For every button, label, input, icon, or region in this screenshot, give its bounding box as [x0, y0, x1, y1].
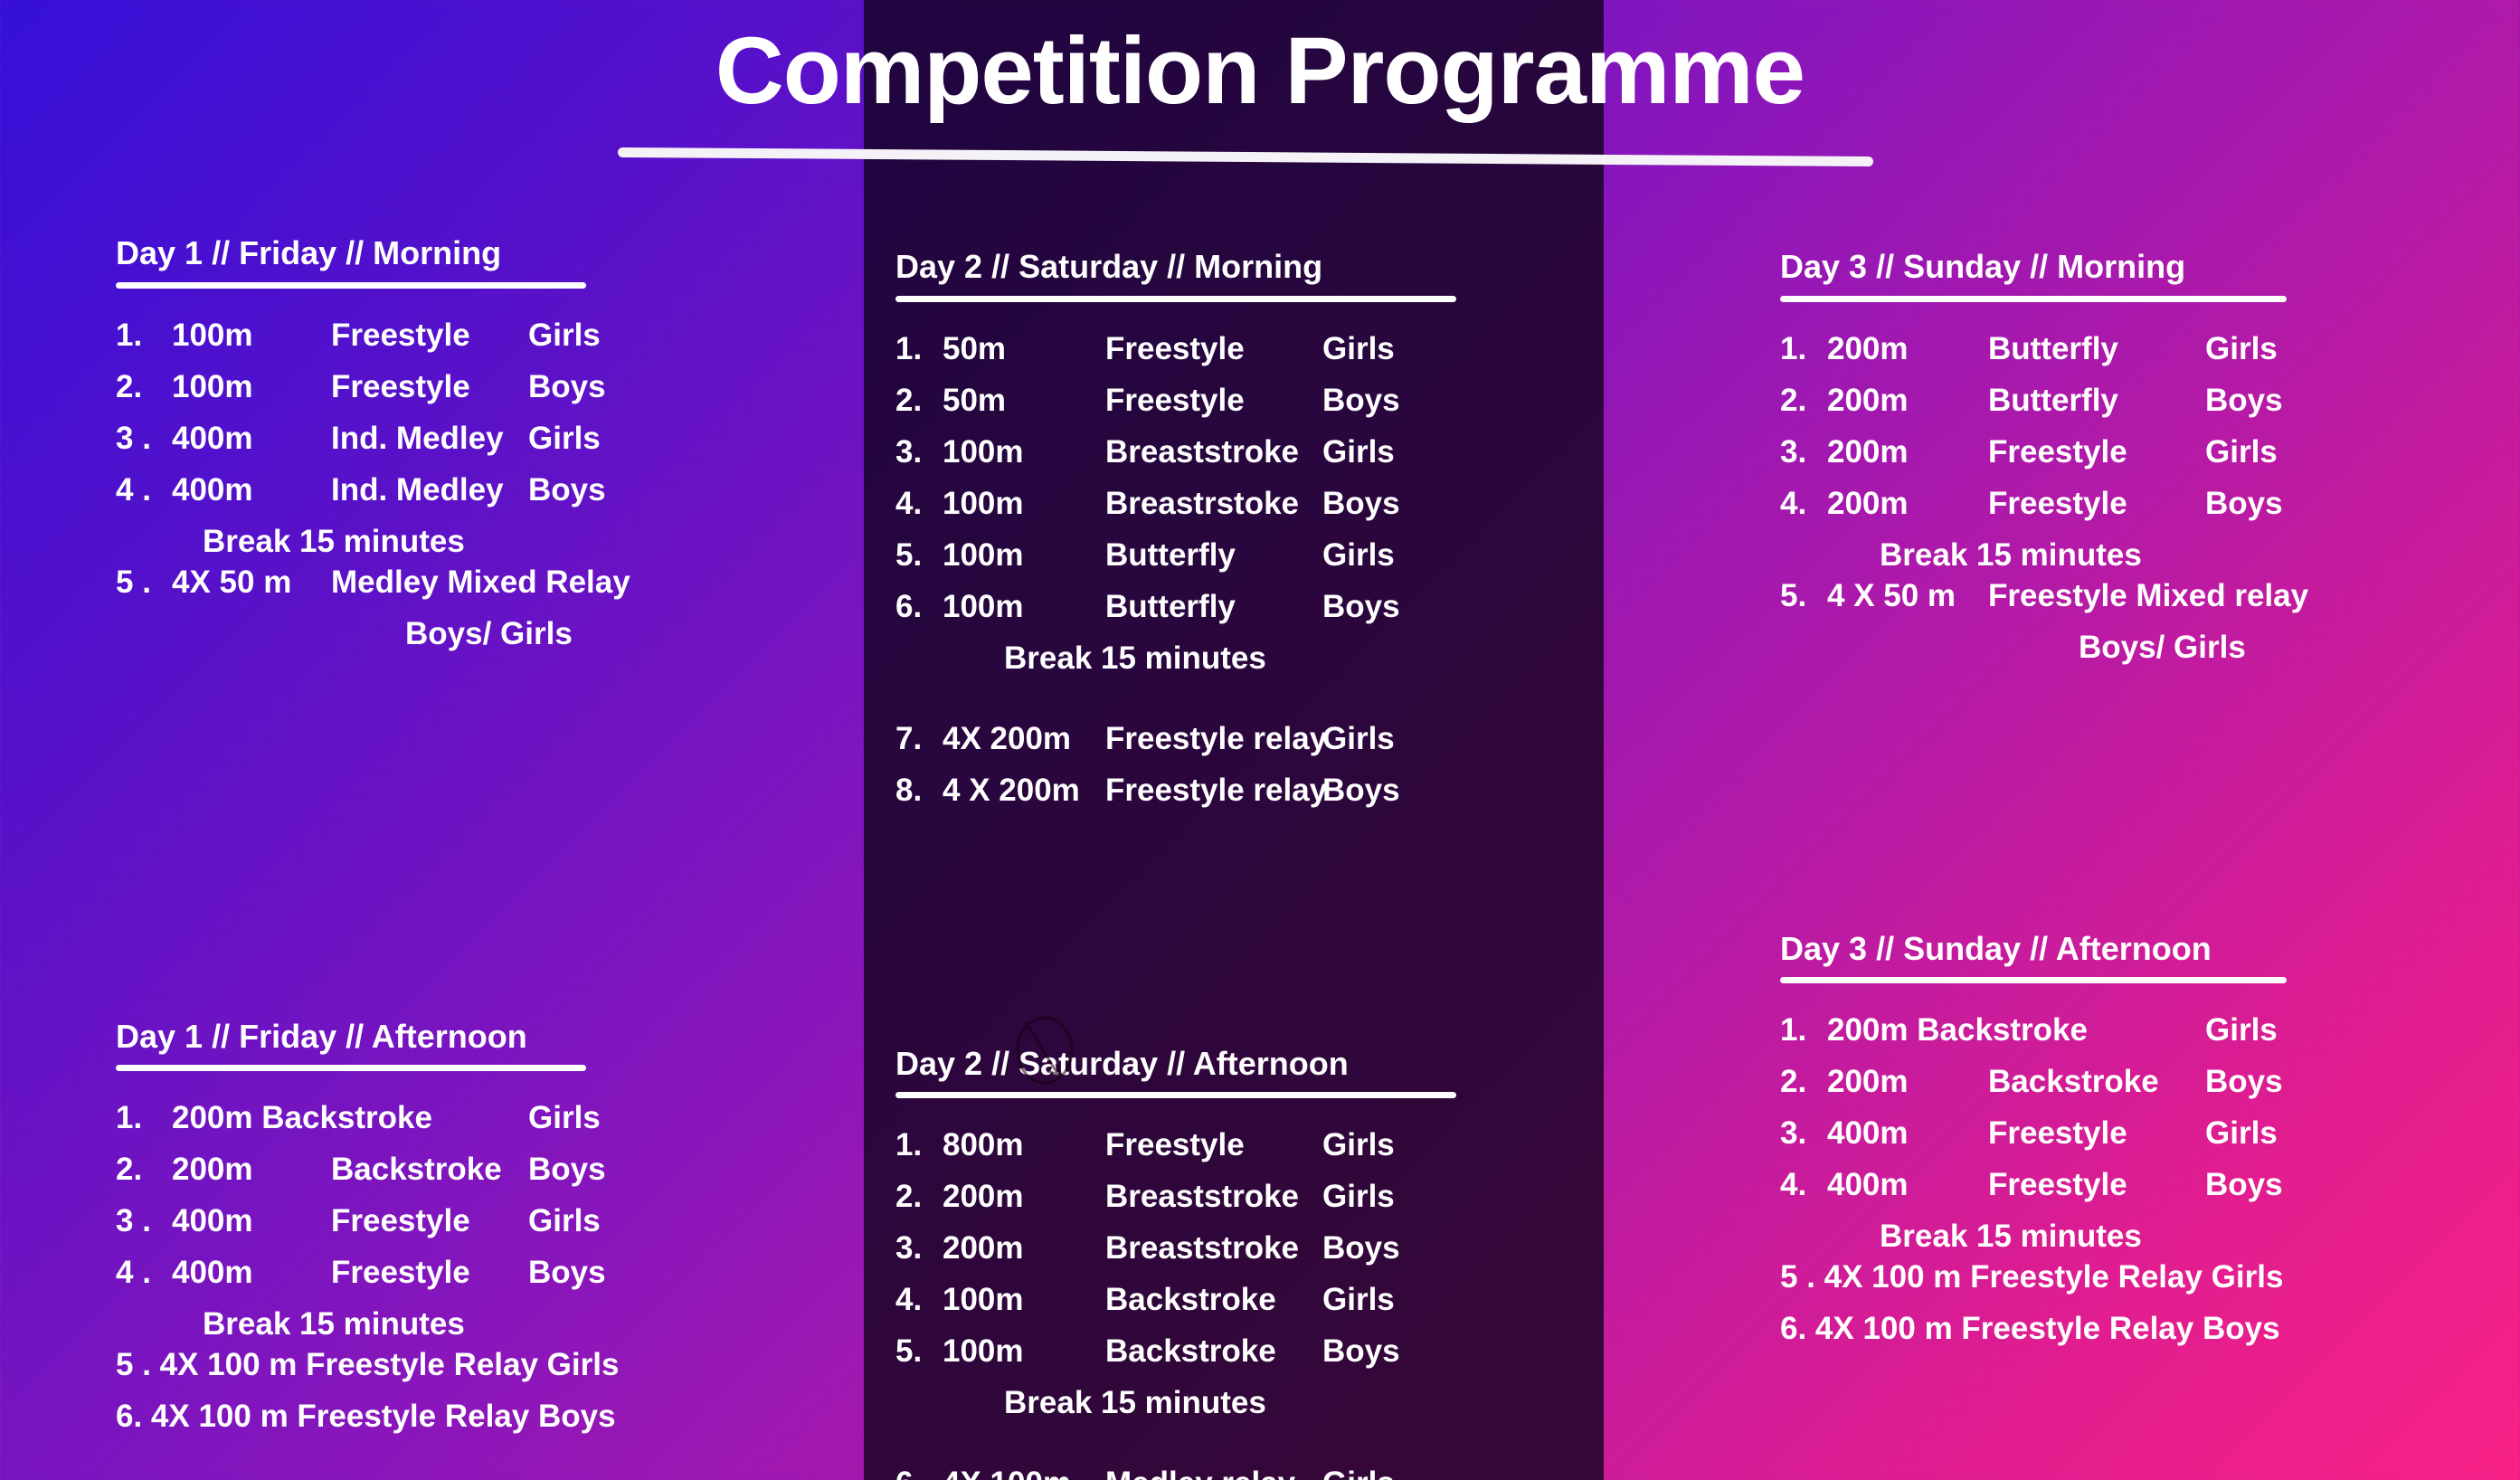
event-stroke: Freestyle [1105, 384, 1322, 416]
event-number: 2. [895, 384, 943, 416]
event-stroke: Breastrstoke [1105, 488, 1322, 519]
section-day-3-afternoon: Day 3 // Sunday // Afternoon1.200m Backs… [1780, 931, 2504, 1345]
event-number: 4. [895, 488, 943, 519]
section-heading: Day 3 // Sunday // Afternoon [1780, 931, 2504, 967]
event-category: Boys [1322, 591, 1400, 622]
event-distance: 200m [943, 1181, 1105, 1212]
continuation-row: Boys/ Girls [116, 618, 839, 650]
event-number: 1. [116, 1102, 172, 1134]
table-row: 3.200mFreestyleGirls [1780, 436, 2504, 468]
table-row: 6.100mButterflyBoys [895, 591, 1610, 622]
break-row: Break 15 minutes [895, 1387, 1610, 1418]
event-category: Girls [1322, 333, 1395, 365]
event-category: Girls [2205, 1117, 2278, 1149]
table-row: 2.200mButterflyBoys [1780, 384, 2504, 416]
table-row: 3.100mBreaststrokeGirls [895, 436, 1610, 468]
column-day-1: Day 1 // Friday // Morning1.100mFreestyl… [116, 235, 839, 1452]
table-row: 2.100mFreestyleBoys [116, 371, 839, 403]
event-category: Boys [2205, 384, 2283, 416]
event-distance: 50m [943, 384, 1105, 416]
event-distance: 200m [1827, 488, 1988, 519]
event-number: 1. [1780, 333, 1827, 365]
table-row: 8.4 X 200mFreestyle relayBoys [895, 774, 1610, 806]
event-number: 3 . [116, 422, 172, 454]
event-category: Boys [2205, 488, 2283, 519]
event-stroke: Backstroke [1105, 1335, 1322, 1367]
event-number: 8. [895, 774, 943, 806]
event-distance: 200m [1827, 384, 1988, 416]
section-day-1-morning: Day 1 // Friday // Morning1.100mFreestyl… [116, 235, 839, 650]
event-distance: 400m [1827, 1169, 1988, 1200]
event-number: 3. [1780, 436, 1827, 468]
event-distance: 800m [943, 1129, 1105, 1161]
section-day-3-morning: Day 3 // Sunday // Morning1.200mButterfl… [1780, 249, 2504, 663]
event-stroke: Butterfly [1105, 539, 1322, 571]
section-day-2-morning: Day 2 // Saturday // Morning1.50mFreesty… [895, 249, 1610, 806]
table-row: 4.400mFreestyleBoys [1780, 1169, 2504, 1200]
event-distance: 4X 100m [943, 1467, 1105, 1480]
table-row: 2.200mBreaststrokeGirls [895, 1181, 1610, 1212]
event-stroke: Butterfly [1988, 384, 2205, 416]
event-stroke: Ind. Medley [331, 422, 528, 454]
column-day-3: Day 3 // Sunday // Morning1.200mButterfl… [1780, 249, 2504, 1364]
table-row: 5 .4X 50 mMedley Mixed Relay [116, 566, 839, 598]
section-underline [116, 282, 586, 289]
event-number: 5 . [116, 566, 172, 598]
event-number: 2. [1780, 384, 1827, 416]
event-distance: 200m [1827, 333, 1988, 365]
table-row: 3 .400mFreestyleGirls [116, 1205, 839, 1237]
event-category: Boys [528, 474, 606, 506]
column-day-2: Day 2 // Saturday // Morning1.50mFreesty… [895, 249, 1610, 1480]
table-row: 2.50mFreestyleBoys [895, 384, 1610, 416]
table-row: 5.100mButterflyGirls [895, 539, 1610, 571]
event-stroke: Freestyle [1988, 1169, 2205, 1200]
event-stroke: Breaststroke [1105, 1181, 1322, 1212]
event-stroke: Freestyle [1988, 1117, 2205, 1149]
table-row: 5.4 X 50 mFreestyle Mixed relay [1780, 580, 2504, 612]
event-distance: 400m [172, 474, 331, 506]
event-stroke: Breaststroke [1105, 1232, 1322, 1264]
event-category: Boys [528, 371, 606, 403]
event-number: 4 . [116, 1257, 172, 1288]
event-stroke: Freestyle [331, 1257, 528, 1288]
break-row: Break 15 minutes [116, 526, 839, 557]
event-number: 1. [116, 319, 172, 351]
section-day-1-afternoon: Day 1 // Friday // Afternoon1.200m Backs… [116, 1019, 839, 1433]
event-category: Girls [528, 1102, 601, 1134]
break-row: Break 15 minutes [1780, 1220, 2504, 1252]
event-stroke: Breaststroke [1105, 436, 1322, 468]
event-distance: 400m [1827, 1117, 1988, 1149]
table-row: 2.200mBackstrokeBoys [116, 1153, 839, 1185]
table-row: 6.4X 100mMedley relayGirls [895, 1467, 1610, 1480]
event-stroke: Freestyle [331, 319, 528, 351]
section-heading: Day 3 // Sunday // Morning [1780, 249, 2504, 285]
event-category: Girls [1322, 1467, 1395, 1480]
table-row: 4.100mBreastrstokeBoys [895, 488, 1610, 519]
event-number: 2. [895, 1181, 943, 1212]
section-underline [1780, 977, 2287, 983]
event-number: 2. [1780, 1066, 1827, 1097]
event-number: 4. [1780, 1169, 1827, 1200]
event-category: Girls [2205, 436, 2278, 468]
event-distance: 100m [172, 371, 331, 403]
section-heading: Day 2 // Saturday // Afternoon [895, 1046, 1610, 1082]
event-category: Boys [2205, 1066, 2283, 1097]
event-stroke: Freestyle [1988, 488, 2205, 519]
event-distance: 400m [172, 422, 331, 454]
event-number: 1. [1780, 1014, 1827, 1046]
event-row-inline: 6. 4X 100 m Freestyle Relay Boys [1780, 1313, 2504, 1344]
section-underline [1780, 296, 2287, 302]
event-category: Girls [1322, 1181, 1395, 1212]
event-number: 4 . [116, 474, 172, 506]
event-stroke: Backstroke [331, 1153, 528, 1185]
section-heading: Day 1 // Friday // Afternoon [116, 1019, 839, 1055]
event-stroke: Freestyle [1105, 333, 1322, 365]
event-distance: 400m [172, 1205, 331, 1237]
event-category: Girls [1322, 539, 1395, 571]
event-distance: 200m [172, 1153, 331, 1185]
event-distance: 100m [943, 1284, 1105, 1315]
event-number: 7. [895, 723, 943, 754]
event-category: Boys [1322, 488, 1400, 519]
event-category: Girls [528, 319, 601, 351]
event-number: 1. [895, 333, 943, 365]
event-stroke: Freestyle Mixed relay [1988, 580, 2205, 612]
event-number: 5. [895, 1335, 943, 1367]
event-number: 3 . [116, 1205, 172, 1237]
event-category: Girls [528, 422, 601, 454]
table-row: 4.100mBackstrokeGirls [895, 1284, 1610, 1315]
event-stroke: Freestyle [1105, 1129, 1322, 1161]
event-number: 6. [895, 1467, 943, 1480]
table-row: 1.200m BackstrokeGirls [116, 1102, 839, 1134]
section-heading: Day 2 // Saturday // Morning [895, 249, 1610, 285]
page-title: Competition Programme [0, 20, 2520, 122]
break-row: Break 15 minutes [1780, 539, 2504, 571]
event-stroke: Backstroke [1105, 1284, 1322, 1315]
event-distance: 4X 50 m [172, 566, 331, 598]
event-number: 3. [895, 436, 943, 468]
table-row: 4 .400mFreestyleBoys [116, 1257, 839, 1288]
break-row: Break 15 minutes [116, 1308, 839, 1340]
event-list: 1.200m BackstrokeGirls2.200mBackstrokeBo… [116, 1102, 839, 1432]
event-stroke: Butterfly [1105, 591, 1322, 622]
table-row: 1.200m BackstrokeGirls [1780, 1014, 2504, 1046]
event-distance: 200m [1827, 1066, 1988, 1097]
event-number: 5. [895, 539, 943, 571]
section-underline [895, 296, 1456, 302]
event-distance: 200m Backstroke [1827, 1014, 1988, 1046]
table-row: 1.200mButterflyGirls [1780, 333, 2504, 365]
section-underline [895, 1092, 1456, 1098]
event-stroke: Ind. Medley [331, 474, 528, 506]
event-number: 6. [895, 591, 943, 622]
event-category: Girls [1322, 1129, 1395, 1161]
event-category: Girls [2205, 333, 2278, 365]
event-number: 5. [1780, 580, 1827, 612]
event-stroke: Freestyle relay [1105, 774, 1322, 806]
event-stroke: Freestyle [1988, 436, 2205, 468]
table-row: 3.200mBreaststrokeBoys [895, 1232, 1610, 1264]
event-category: Boys [1322, 1335, 1400, 1367]
event-category: Boys [1322, 774, 1400, 806]
event-list: 1.800mFreestyleGirls2.200mBreaststrokeGi… [895, 1129, 1610, 1480]
event-stroke: Backstroke [1988, 1066, 2205, 1097]
event-distance: 4 X 200m [943, 774, 1105, 806]
table-row: 5.100mBackstrokeBoys [895, 1335, 1610, 1367]
event-category: Girls [1322, 1284, 1395, 1315]
event-row-inline: 6. 4X 100 m Freestyle Relay Boys [116, 1400, 839, 1432]
event-row-inline: 5 . 4X 100 m Freestyle Relay Girls [116, 1349, 839, 1380]
event-distance: 400m [172, 1257, 331, 1288]
event-category: Boys [2205, 1169, 2283, 1200]
table-row: 1.100mFreestyleGirls [116, 319, 839, 351]
table-row: 1.800mFreestyleGirls [895, 1129, 1610, 1161]
event-category: Girls [1322, 723, 1395, 754]
title-block: Competition Programme [0, 20, 2520, 122]
event-number: 3. [895, 1232, 943, 1264]
event-stroke: Medley relay [1105, 1467, 1322, 1480]
event-distance: 200m Backstroke [172, 1102, 331, 1134]
table-row: 3 .400mInd. MedleyGirls [116, 422, 839, 454]
event-category: Girls [2205, 1014, 2278, 1046]
table-row: 2.200mBackstrokeBoys [1780, 1066, 2504, 1097]
event-number: 2. [116, 1153, 172, 1185]
event-category: Boys [528, 1257, 606, 1288]
event-stroke: Medley Mixed Relay [331, 566, 528, 598]
event-stroke: Freestyle [331, 1205, 528, 1237]
event-number: 4. [1780, 488, 1827, 519]
event-category: Boys [1322, 384, 1400, 416]
event-category: Boys [528, 1153, 606, 1185]
event-list: 1.50mFreestyleGirls2.50mFreestyleBoys3.1… [895, 333, 1610, 806]
section-day-2-afternoon: Day 2 // Saturday // Afternoon1.800mFree… [895, 1046, 1610, 1480]
table-row: 4.200mFreestyleBoys [1780, 488, 2504, 519]
event-stroke: Freestyle relay [1105, 723, 1322, 754]
event-distance: 4 X 50 m [1827, 580, 1988, 612]
event-distance: 100m [172, 319, 331, 351]
event-list: 1.200mButterflyGirls2.200mButterflyBoys3… [1780, 333, 2504, 663]
event-category: Boys [1322, 1232, 1400, 1264]
event-distance: 100m [943, 1335, 1105, 1367]
event-row-inline: 5 . 4X 100 m Freestyle Relay Girls [1780, 1261, 2504, 1293]
event-category: Girls [528, 1205, 601, 1237]
break-row: Break 15 minutes [895, 642, 1610, 674]
row-spacer [895, 683, 1610, 723]
section-underline [116, 1065, 586, 1071]
event-distance: 4X 200m [943, 723, 1105, 754]
event-distance: 100m [943, 539, 1105, 571]
event-number: 2. [116, 371, 172, 403]
event-distance: 100m [943, 591, 1105, 622]
table-row: 3.400mFreestyleGirls [1780, 1117, 2504, 1149]
event-number: 4. [895, 1284, 943, 1315]
event-stroke: Butterfly [1988, 333, 2205, 365]
section-heading: Day 1 // Friday // Morning [116, 235, 839, 271]
table-row: 1.50mFreestyleGirls [895, 333, 1610, 365]
event-stroke: Freestyle [331, 371, 528, 403]
event-category: Girls [1322, 436, 1395, 468]
event-distance: 100m [943, 488, 1105, 519]
event-number: 1. [895, 1129, 943, 1161]
event-distance: 50m [943, 333, 1105, 365]
table-row: 4 .400mInd. MedleyBoys [116, 474, 839, 506]
continuation-row: Boys/ Girls [1780, 631, 2504, 663]
event-list: 1.100mFreestyleGirls2.100mFreestyleBoys3… [116, 319, 839, 650]
event-distance: 200m [1827, 436, 1988, 468]
row-spacer [895, 1428, 1610, 1467]
event-distance: 100m [943, 436, 1105, 468]
table-row: 7.4X 200mFreestyle relayGirls [895, 723, 1610, 754]
event-list: 1.200m BackstrokeGirls2.200mBackstrokeBo… [1780, 1014, 2504, 1344]
event-distance: 200m [943, 1232, 1105, 1264]
event-number: 3. [1780, 1117, 1827, 1149]
